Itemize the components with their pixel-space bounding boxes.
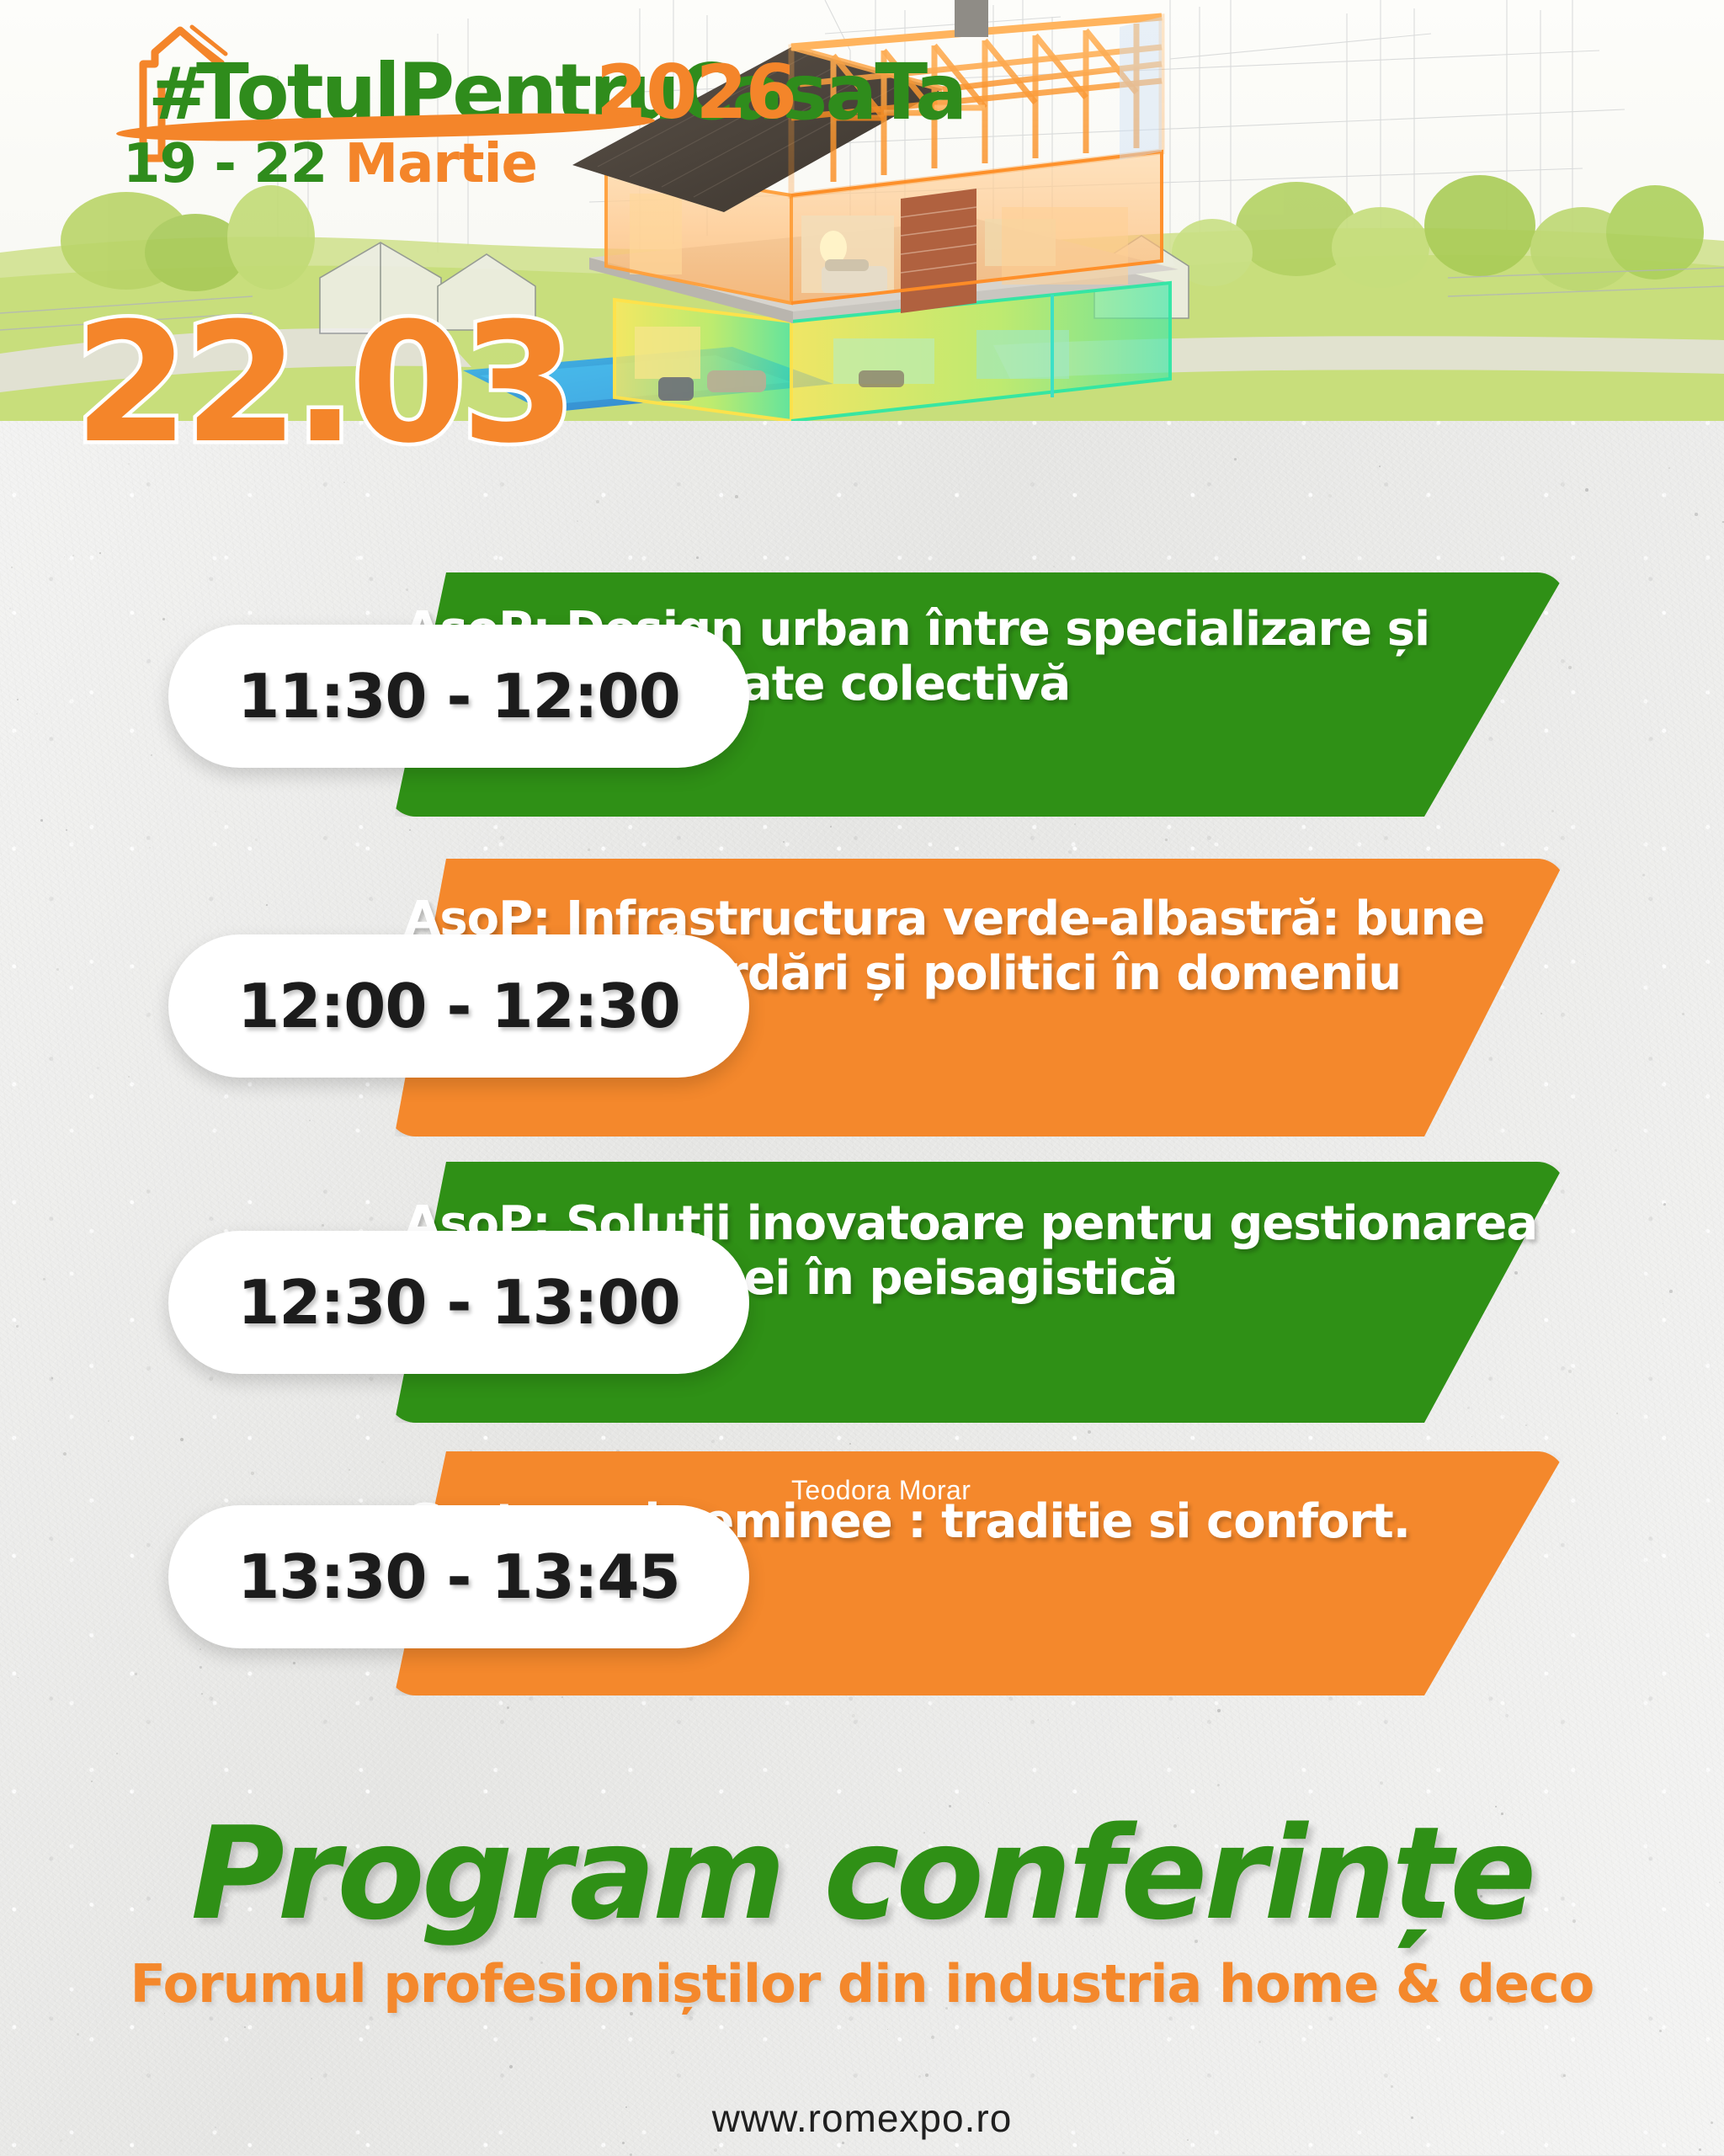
session-time-pill[interactable]: 11:30 - 12:00	[168, 625, 749, 768]
schedule-row: Gratare si seminee : traditie si confort…	[0, 1414, 1724, 1692]
session-time: 13:30 - 13:45	[237, 1541, 679, 1612]
event-logo: # TotulPentruCasaTa 2026 19 - 22 Martie	[49, 8, 672, 160]
schedule-list: AsoP: Design urban între specializare și…	[0, 572, 1724, 1692]
logo-dates: 19 - 22 Martie	[123, 133, 537, 195]
session-speaker-overflow: Teodora Morar	[791, 1475, 971, 1506]
page-date: 22.03	[74, 301, 571, 466]
schedule-row: AsoP: Design urban între specializare și…	[0, 572, 1724, 842]
logo-dates-month: Martie	[345, 133, 537, 195]
session-time-pill[interactable]: 12:30 - 13:00	[168, 1231, 749, 1374]
footer-title: Program conferințe	[0, 1810, 1724, 1938]
schedule-row: AsoP: Infrastructura verde-albastră: bun…	[0, 842, 1724, 1137]
session-time-pill[interactable]: 12:00 - 12:30	[168, 934, 749, 1078]
footer: Program conferințe Forumul profesioniști…	[0, 1810, 1724, 2141]
schedule-row: AsoP: Soluții inovatoare pentru gestiona…	[0, 1137, 1724, 1414]
footer-subtitle: Forumul profesioniștilor din industria h…	[0, 1953, 1724, 2015]
session-time: 12:00 - 12:30	[237, 971, 679, 1041]
session-time-pill[interactable]: 13:30 - 13:45	[168, 1505, 749, 1648]
session-time: 11:30 - 12:00	[237, 661, 679, 732]
session-time: 12:30 - 13:00	[237, 1267, 679, 1338]
footer-url[interactable]: www.romexpo.ro	[0, 2095, 1724, 2141]
logo-dates-day: 19 - 22	[123, 133, 327, 195]
